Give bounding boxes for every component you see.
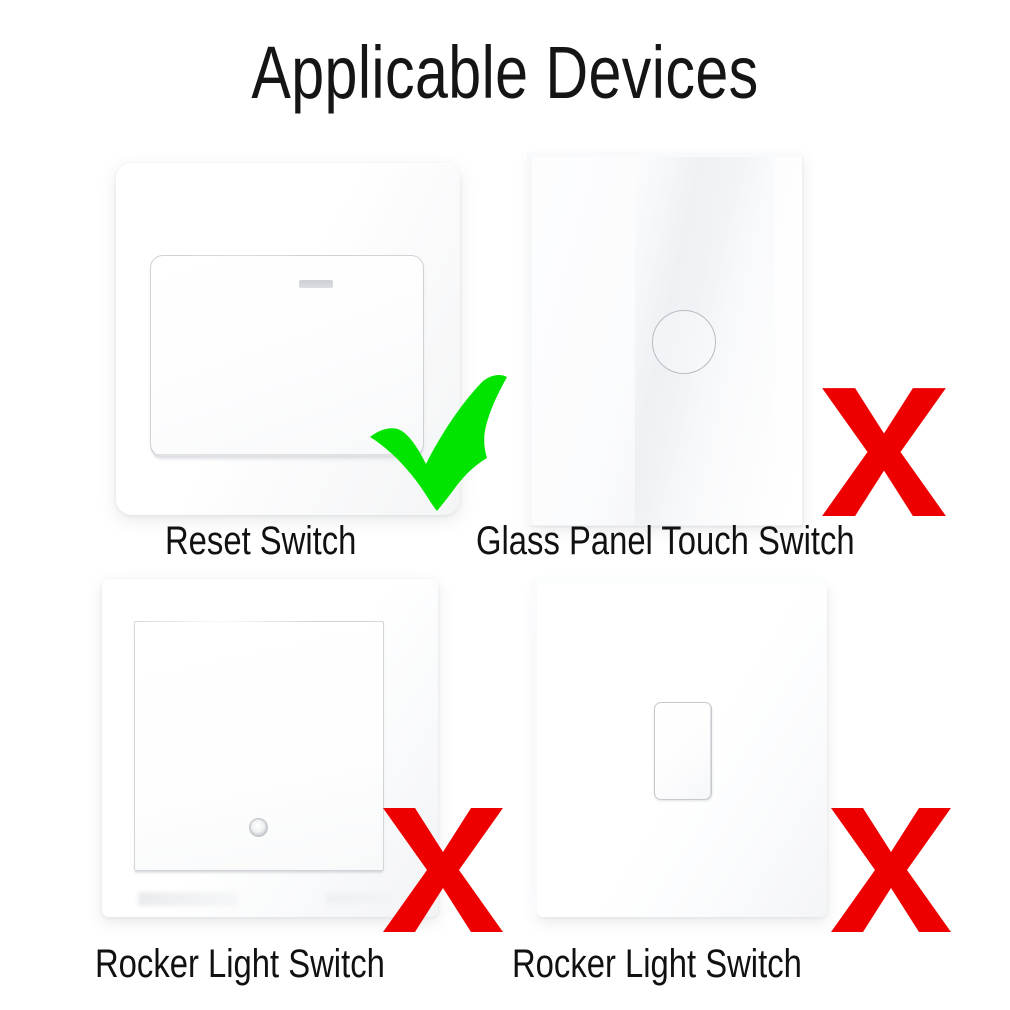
page-title: Applicable Devices [101, 36, 909, 110]
rocker-plate [134, 621, 384, 871]
indicator-strip [299, 280, 333, 288]
switch-frame [102, 579, 438, 917]
rocker-plate [150, 255, 424, 457]
caption-reset-switch: Reset Switch [165, 521, 356, 561]
brand-mark-secondary [326, 893, 392, 904]
touch-circle-icon [652, 310, 716, 374]
device-rocker-light-switch-right [505, 565, 935, 925]
device-reset-switch [90, 140, 490, 540]
caption-glass-panel-touch-switch: Glass Panel Touch Switch [476, 521, 855, 561]
flat-plate [537, 583, 827, 917]
caption-rocker-light-switch-right: Rocker Light Switch [512, 944, 802, 984]
brand-mark [138, 892, 238, 906]
caption-rocker-light-switch-left: Rocker Light Switch [95, 944, 385, 984]
rocker-paddle [654, 702, 712, 800]
led-indicator-icon [249, 818, 268, 837]
device-rocker-light-switch-left [80, 565, 500, 925]
device-glass-panel-touch-switch [500, 140, 920, 540]
switch-frame [116, 163, 460, 515]
glass-panel [531, 156, 803, 526]
infographic-page: Applicable Devices [0, 0, 1010, 1010]
